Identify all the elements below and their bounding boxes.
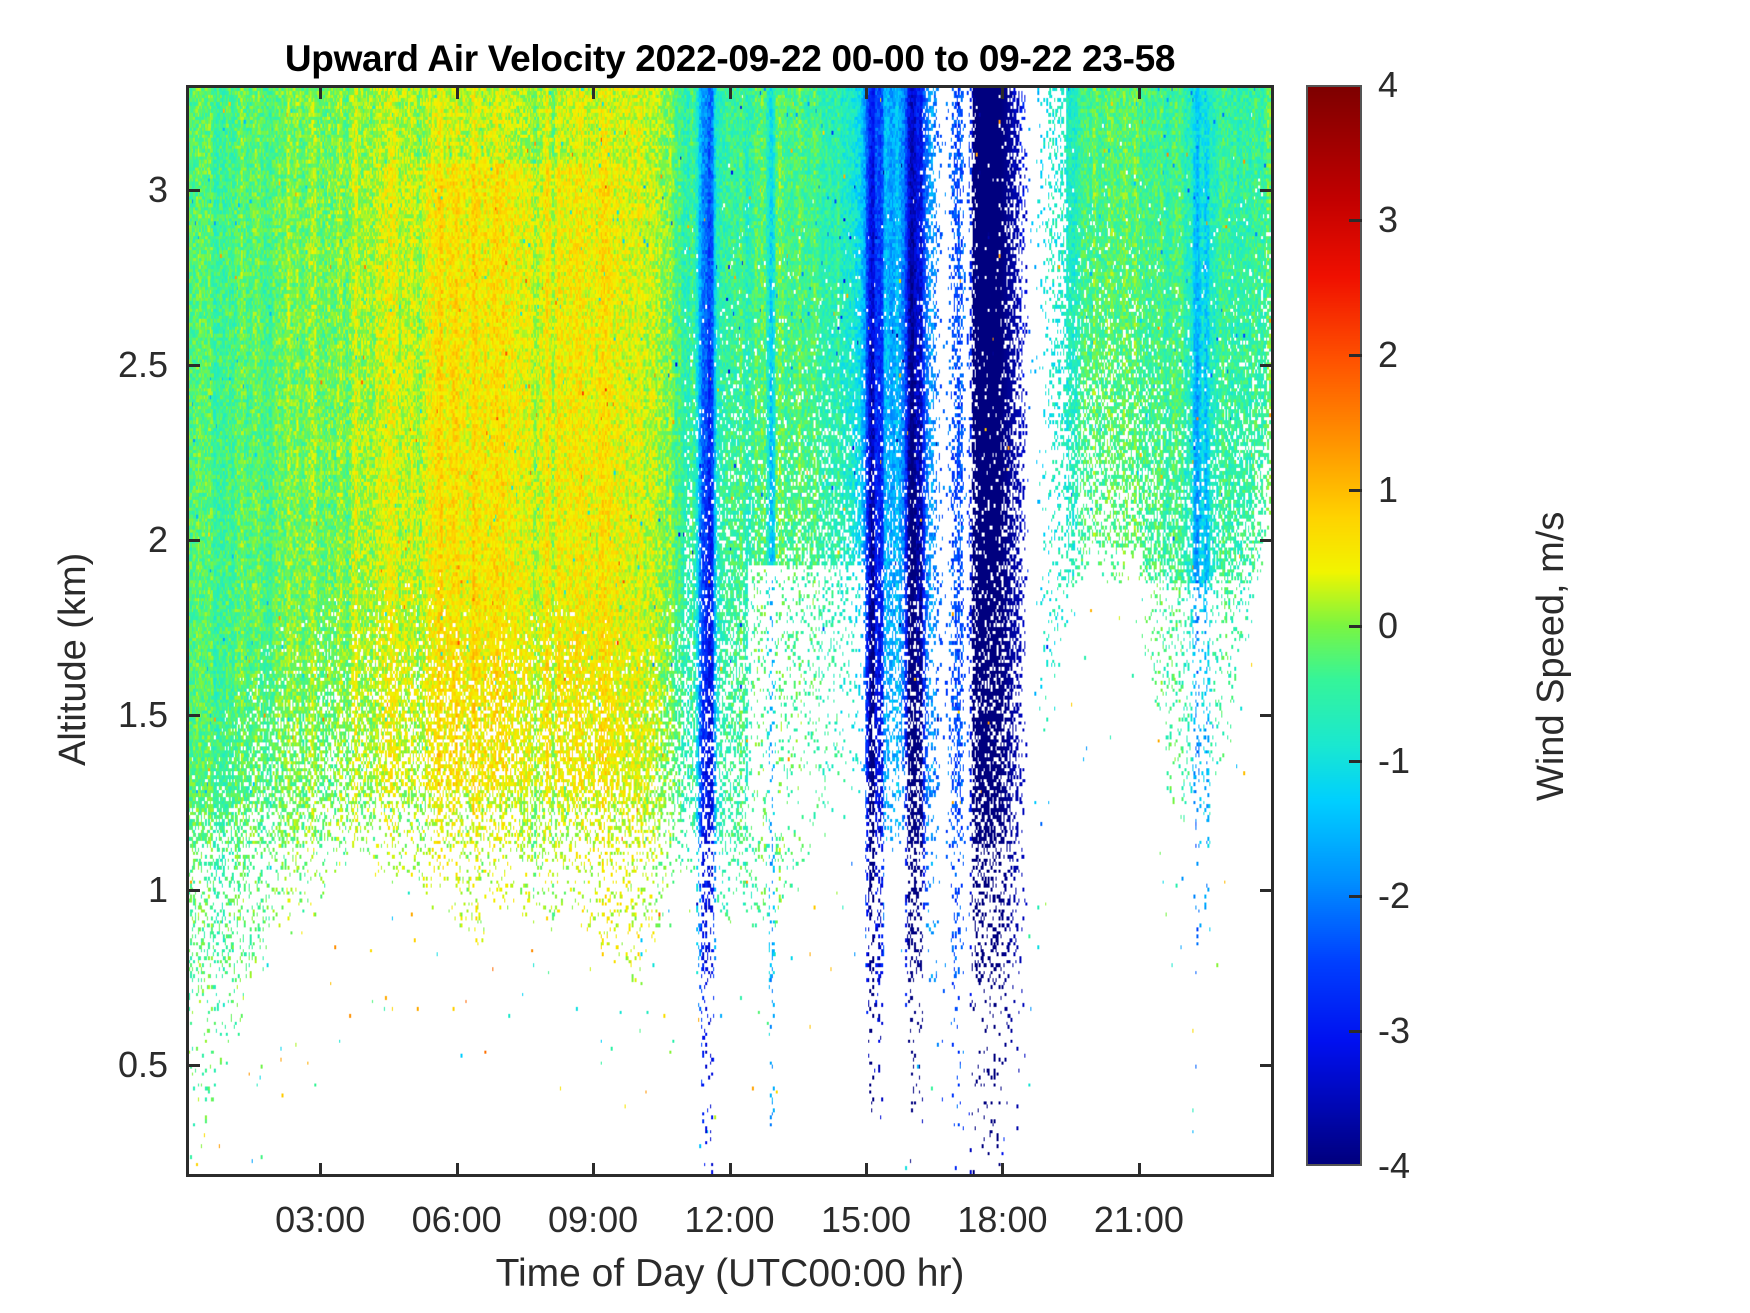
x-tick-label: 06:00 [412,1199,502,1241]
colorbar-tick-mark [1349,895,1362,898]
x-tick-label: 09:00 [548,1199,638,1241]
colorbar-tick-label: -1 [1378,740,1410,782]
y-tick-mark [186,889,200,892]
figure-root: Upward Air Velocity 2022-09-22 00-00 to … [0,0,1750,1313]
colorbar-tick-mark [1349,219,1362,222]
colorbar-tick-label: 3 [1378,199,1398,241]
y-tick-mark [186,714,200,717]
x-tick-mark [1138,1163,1141,1177]
y-tick-mark [186,364,200,367]
x-tick-mark-top [729,85,732,99]
y-tick-mark-right [1260,889,1274,892]
y-tick-label: 0.5 [56,1044,168,1086]
x-tick-mark [1001,1163,1004,1177]
y-tick-label: 1 [56,869,168,911]
x-tick-mark [456,1163,459,1177]
x-tick-mark [729,1163,732,1177]
y-axis-label: Altitude (km) [52,553,95,766]
x-tick-mark-top [456,85,459,99]
colorbar-tick-mark [1349,489,1362,492]
x-tick-mark-top [865,85,868,99]
y-tick-mark-right [1260,714,1274,717]
colorbar-label: Wind Speed, m/s [1530,511,1573,800]
plot-area [186,85,1274,1177]
colorbar-tick-mark [1349,625,1362,628]
colorbar-tick-mark [1349,354,1362,357]
x-tick-label: 12:00 [684,1199,774,1241]
y-tick-label: 2.5 [56,344,168,386]
y-tick-mark-right [1260,364,1274,367]
colorbar-tick-label: 1 [1378,469,1398,511]
colorbar-tick-label: 4 [1378,64,1398,106]
x-tick-label: 18:00 [957,1199,1047,1241]
x-tick-mark [865,1163,868,1177]
colorbar-tick-label: 2 [1378,334,1398,376]
x-tick-label: 15:00 [821,1199,911,1241]
colorbar-tick-mark [1349,760,1362,763]
chart-title: Upward Air Velocity 2022-09-22 00-00 to … [186,38,1274,80]
x-tick-mark [319,1163,322,1177]
y-tick-mark-right [1260,1064,1274,1067]
colorbar-tick-label: -3 [1378,1010,1410,1052]
x-tick-mark-top [592,85,595,99]
colorbar-tick-mark [1349,1030,1362,1033]
x-tick-label: 03:00 [275,1199,365,1241]
y-tick-mark [186,539,200,542]
x-tick-mark [592,1163,595,1177]
colorbar-tick-label: 0 [1378,605,1398,647]
y-tick-mark-right [1260,189,1274,192]
colorbar-tick-label: -4 [1378,1145,1410,1187]
colorbar-tick-label: -2 [1378,875,1410,917]
x-tick-mark-top [319,85,322,99]
x-tick-mark-top [1001,85,1004,99]
heatmap-canvas [189,88,1271,1174]
x-tick-mark-top [1138,85,1141,99]
y-tick-mark [186,189,200,192]
y-tick-mark [186,1064,200,1067]
y-tick-label: 3 [56,169,168,211]
y-tick-mark-right [1260,539,1274,542]
x-axis-label: Time of Day (UTC00:00 hr) [186,1252,1274,1296]
x-tick-label: 21:00 [1094,1199,1184,1241]
